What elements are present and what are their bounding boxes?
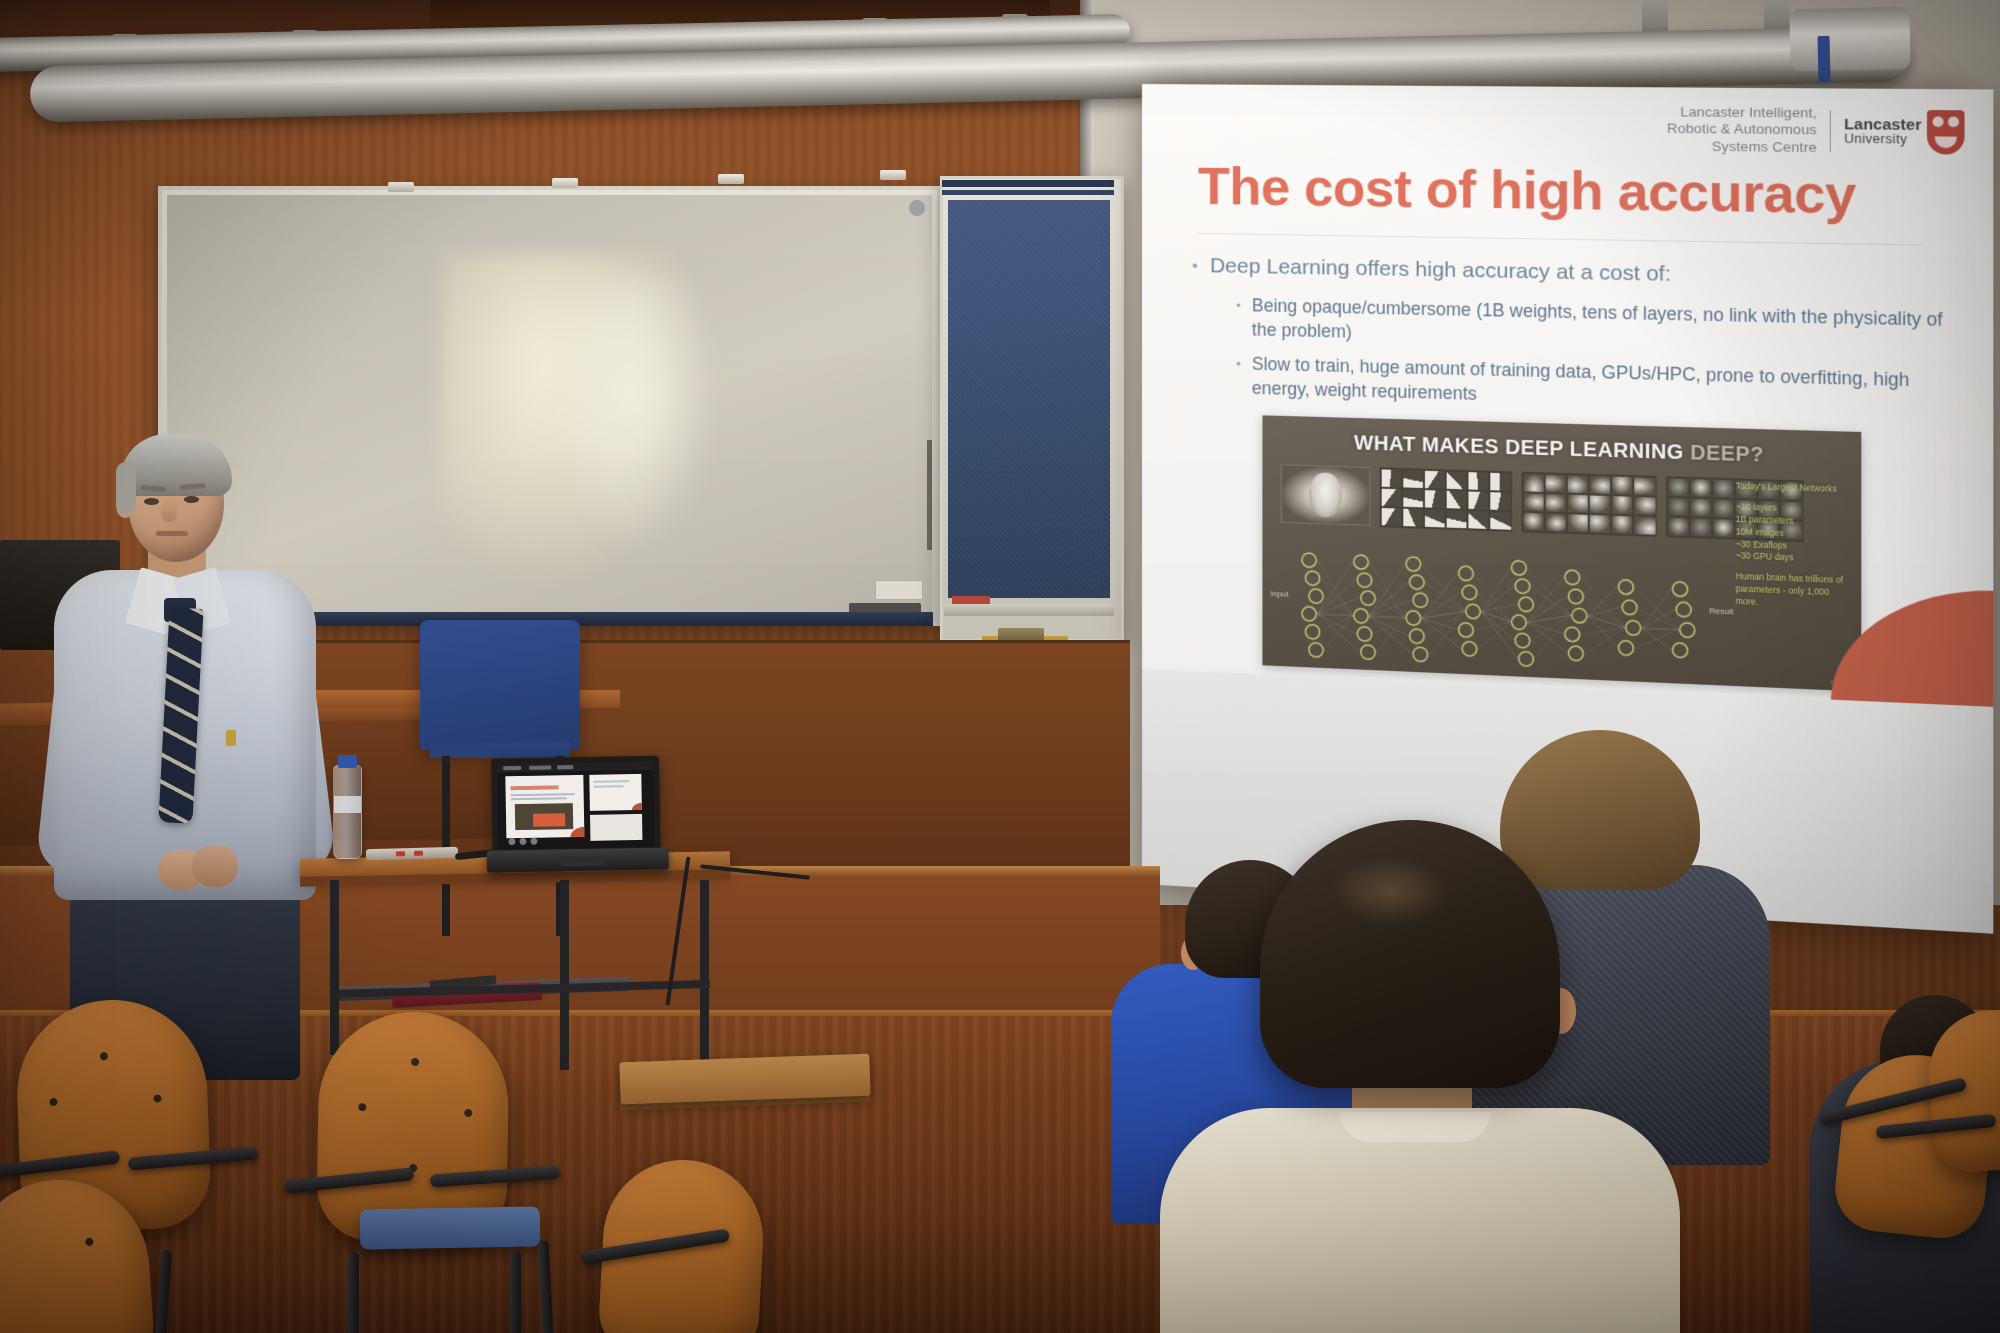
- university-wordmark: Lancaster University: [1844, 117, 1922, 147]
- table-leg: [330, 880, 339, 1055]
- presenter-laptop[interactable]: [491, 755, 668, 873]
- chair-leg: [442, 756, 450, 936]
- lirac-centre-name: Lancaster Intelligent, Robotic & Autonom…: [1667, 104, 1817, 157]
- filter-grid-edges: [1380, 467, 1513, 532]
- lirac-line-2: Robotic & Autonomous: [1667, 121, 1817, 139]
- lirac-line-3: Systems Centre: [1667, 138, 1817, 157]
- laptop-screen[interactable]: [497, 762, 654, 850]
- attendee-collar: [1340, 1112, 1490, 1142]
- side-note-footer: Human brain has trillions of parameters …: [1736, 571, 1851, 613]
- water-bottle: [333, 765, 362, 859]
- writing-tablet: [619, 1054, 870, 1105]
- feature-hierarchy-row: [1281, 464, 1804, 542]
- slide-bullet-list: • Deep Learning offers high accuracy at …: [1192, 253, 1954, 432]
- slide-title-rule: [1198, 233, 1923, 246]
- network-output-label: Result: [1709, 606, 1733, 616]
- current-slide-preview: [505, 775, 584, 838]
- side-note-title: Today's Largest Networks: [1736, 480, 1851, 496]
- whiteboard-label-plate: [875, 580, 923, 600]
- bullet-dot-icon: •: [1236, 353, 1241, 401]
- neural-network-svg: [1273, 533, 1721, 680]
- presenter-hair: [120, 434, 232, 496]
- university-shield-icon: [1927, 110, 1964, 155]
- presenter-view-controls[interactable]: [508, 838, 537, 846]
- bullet-dot-icon: •: [1236, 294, 1241, 342]
- deep-learning-figure: WHAT MAKES DEEP LEARNING DEEP? Input Res…: [1262, 415, 1861, 691]
- window-reflection-2: [550, 279, 718, 558]
- figure-heading-strong: WHAT MAKES DEEP LEARNING: [1354, 432, 1684, 464]
- side-note-stats: ~10 layers1B parameters10M images~30 Exa…: [1736, 501, 1851, 567]
- laptop-trackpad[interactable]: [561, 857, 605, 867]
- university-line-2: University: [1844, 132, 1922, 146]
- side-note-stat: ~30 GPU days: [1736, 550, 1851, 566]
- presenter-nose: [162, 496, 177, 522]
- figure-side-note: Today's Largest Networks ~10 layers1B pa…: [1736, 480, 1851, 612]
- whiteboard-logo: [909, 200, 925, 216]
- blue-pinboard-surface: [948, 200, 1110, 598]
- whiteboard-side-rail: [927, 440, 932, 550]
- filter-grid-parts: [1522, 472, 1657, 537]
- presenter-eye-left: [144, 498, 159, 505]
- figure-heading: WHAT MAKES DEEP LEARNING DEEP?: [1262, 429, 1861, 470]
- duct-blue-band: [1818, 36, 1831, 82]
- bullet-level-1: • Deep Learning offers high accuracy at …: [1192, 253, 1954, 295]
- blue-chair-back: [420, 620, 580, 750]
- slide-notes-panel: [590, 814, 642, 841]
- bullet-level-2: • Slow to train, huge amount of training…: [1236, 353, 1953, 420]
- input-face-image: [1281, 464, 1371, 526]
- neural-network-diagram: [1273, 533, 1721, 680]
- duct-joint: [1789, 7, 1910, 71]
- chair-leg: [510, 1250, 521, 1333]
- next-slide-preview: [589, 774, 642, 811]
- bullet-text: Being opaque/cumbersome (1B weights, ten…: [1252, 294, 1954, 358]
- presenter-hand-right: [192, 845, 238, 887]
- network-input-label: Input: [1271, 589, 1289, 599]
- bullet-text: Deep Learning offers high accuracy at a …: [1210, 253, 1671, 289]
- bullet-text: Slow to train, huge amount of training d…: [1252, 353, 1954, 420]
- presenter-view-toolbar: [497, 762, 653, 773]
- presenter-eye-right: [184, 496, 199, 503]
- pinboard-top-rail: [942, 180, 1114, 187]
- lancaster-university-logo: Lancaster University: [1844, 109, 1965, 154]
- lirac-line-1: Lancaster Intelligent,: [1667, 104, 1817, 122]
- header-divider: [1830, 110, 1831, 152]
- slide-title: The cost of high accuracy: [1198, 157, 1949, 228]
- presenter: [40, 430, 340, 1050]
- figure-heading-dim: DEEP?: [1684, 442, 1764, 467]
- chair-leg: [348, 1252, 359, 1333]
- presentation-slide: Lancaster Intelligent, Robotic & Autonom…: [1142, 84, 1993, 707]
- table-leg: [700, 880, 709, 1065]
- laptop-lid: [491, 756, 661, 856]
- blue-chair-seat: [430, 742, 570, 758]
- bullet-dot-icon: •: [1192, 253, 1198, 280]
- presenter-mouth: [156, 531, 188, 536]
- bottle-label: [334, 796, 361, 813]
- presenter-lapel-badge: [226, 730, 236, 746]
- table-leg: [560, 880, 569, 1070]
- chair-seat: [360, 1206, 541, 1249]
- bottle-cap: [338, 755, 357, 768]
- whiteboard-clip: [388, 182, 414, 192]
- pinboard-ledge: [944, 604, 1114, 616]
- pinboard-top-rail-2: [942, 190, 1114, 195]
- lecture-hall-photo: Lancaster Intelligent, Robotic & Autonom…: [0, 0, 2000, 1333]
- whiteboard-clip: [718, 174, 744, 184]
- slide-header: Lancaster Intelligent, Robotic & Autonom…: [1667, 104, 1965, 158]
- whiteboard-clip: [552, 178, 578, 188]
- whiteboard-clip: [880, 170, 906, 180]
- bullet-level-2: • Being opaque/cumbersome (1B weights, t…: [1236, 294, 1953, 358]
